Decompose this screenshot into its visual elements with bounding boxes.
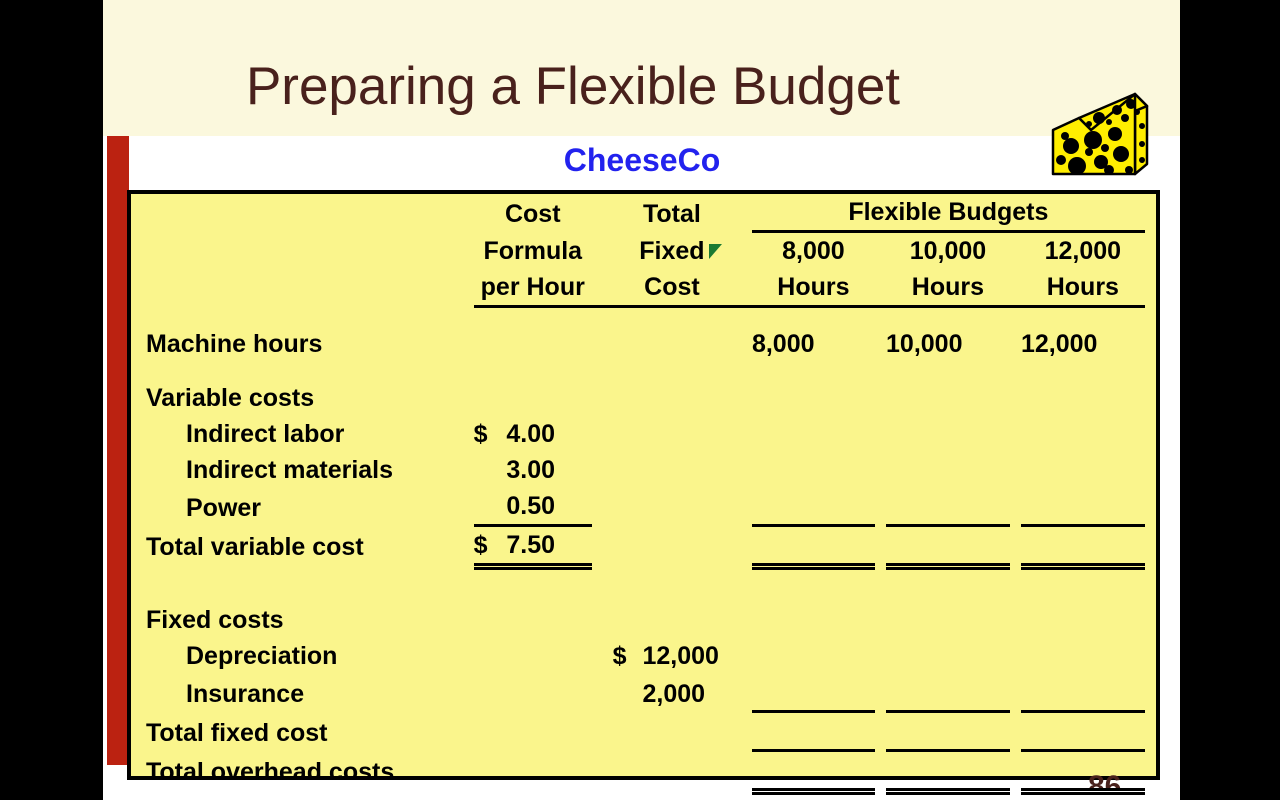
row-budget-1: [752, 488, 875, 526]
row-budget-2: [886, 488, 1010, 526]
table-row: Machine hours 8,000 10,000 12,000: [131, 326, 1156, 362]
slide-stage: Preparing a Flexible Budget: [103, 0, 1180, 800]
row-label: Total fixed cost: [131, 712, 467, 751]
header-budget-3-amount: 12,000: [1021, 232, 1145, 270]
row-label: Machine hours: [131, 326, 467, 362]
row-budget-2: 10,000: [886, 326, 1010, 362]
table-row: Indirect materials 3.00: [131, 452, 1156, 488]
header-cost-formula-line3: per Hour: [474, 269, 592, 307]
table-header-row-2: Formula Fixed 8,000 10,000 12,000: [131, 232, 1156, 270]
row-budget-3: [1021, 712, 1145, 751]
header-budget-1-amount: 8,000: [752, 232, 875, 270]
row-fixed-value: 12,000: [642, 638, 731, 674]
row-budget-2: [886, 712, 1010, 751]
row-formula-value: 0.50: [506, 488, 592, 526]
header-cost-formula-line1: Cost: [474, 194, 592, 232]
row-formula-currency: [474, 488, 507, 526]
row-label: Variable costs: [131, 380, 467, 416]
row-fixed-value: [642, 326, 731, 362]
header-budget-2-amount: 10,000: [886, 232, 1010, 270]
row-budget-3: [1021, 488, 1145, 526]
row-budget-2: [886, 526, 1010, 565]
row-budget-1: [752, 674, 875, 712]
row-formula-value: [506, 326, 592, 362]
table-row: Total variable cost $ 7.50: [131, 526, 1156, 565]
table-row: Total fixed cost: [131, 712, 1156, 751]
row-label: Insurance: [131, 674, 467, 712]
row-budget-1: [752, 751, 875, 790]
header-budget-2-unit: Hours: [886, 269, 1010, 307]
row-label: Fixed costs: [131, 602, 467, 638]
row-fixed-value: 2,000: [642, 674, 731, 712]
row-budget-1: [752, 712, 875, 751]
spacer: [131, 307, 1156, 327]
spacer: [131, 362, 1156, 380]
page-title: Preparing a Flexible Budget: [103, 56, 1043, 117]
row-budget-2: [886, 751, 1010, 790]
table-row: Variable costs: [131, 380, 1156, 416]
row-budget-3: [1021, 674, 1145, 712]
row-label: Power: [131, 488, 467, 526]
row-budget-3: 12,000: [1021, 326, 1145, 362]
row-label: Indirect labor: [131, 416, 467, 452]
row-budget-1: [752, 526, 875, 565]
table-row: Total overhead costs: [131, 751, 1156, 790]
table-row: Insurance 2,000: [131, 674, 1156, 712]
flexible-budget-table-panel: Cost Total Flexible Budgets Formula Fixe…: [127, 190, 1160, 780]
row-budget-2: [886, 674, 1010, 712]
company-subtitle: CheeseCo: [127, 142, 1157, 179]
accent-bar: [107, 136, 129, 765]
table-row: Fixed costs: [131, 602, 1156, 638]
row-formula-currency: $: [474, 526, 507, 565]
table-row: Depreciation $ 12,000: [131, 638, 1156, 674]
header-cost-formula-line2: Formula: [474, 232, 592, 270]
row-formula-currency: $: [474, 416, 507, 452]
table-row: Power 0.50: [131, 488, 1156, 526]
table-row: Indirect labor $ 4.00: [131, 416, 1156, 452]
row-label: Depreciation: [131, 638, 467, 674]
spacer: [131, 584, 1156, 602]
row-formula-value: 4.00: [506, 416, 592, 452]
header-budget-1-unit: Hours: [752, 269, 875, 307]
header-total-fixed-line3: Cost: [613, 269, 732, 307]
row-label: Indirect materials: [131, 452, 467, 488]
row-budget-3: [1021, 526, 1145, 565]
row-formula-currency: [474, 326, 507, 362]
row-formula-currency: [474, 452, 507, 488]
row-formula-value: 3.00: [506, 452, 592, 488]
table-header-row-3: per Hour Cost Hours Hours Hours: [131, 269, 1156, 307]
row-fixed-currency: $: [613, 638, 643, 674]
row-fixed-currency: [613, 674, 643, 712]
row-fixed-currency: [613, 326, 643, 362]
row-budget-1: 8,000: [752, 326, 875, 362]
row-label: Total overhead costs: [131, 751, 467, 790]
page-number: 86: [1088, 770, 1121, 788]
table-header-row-1: Cost Total Flexible Budgets: [131, 194, 1156, 232]
row-budget-3: [1021, 751, 1145, 790]
row-formula-value: 7.50: [506, 526, 592, 565]
header-budget-3-unit: Hours: [1021, 269, 1145, 307]
flexible-budget-table: Cost Total Flexible Budgets Formula Fixe…: [131, 194, 1156, 791]
header-flexible-budgets-group: Flexible Budgets: [752, 194, 1145, 232]
header-total-fixed-line2: Fixed: [613, 232, 732, 270]
header-total-fixed-line1: Total: [613, 194, 732, 232]
row-label: Total variable cost: [131, 526, 467, 565]
